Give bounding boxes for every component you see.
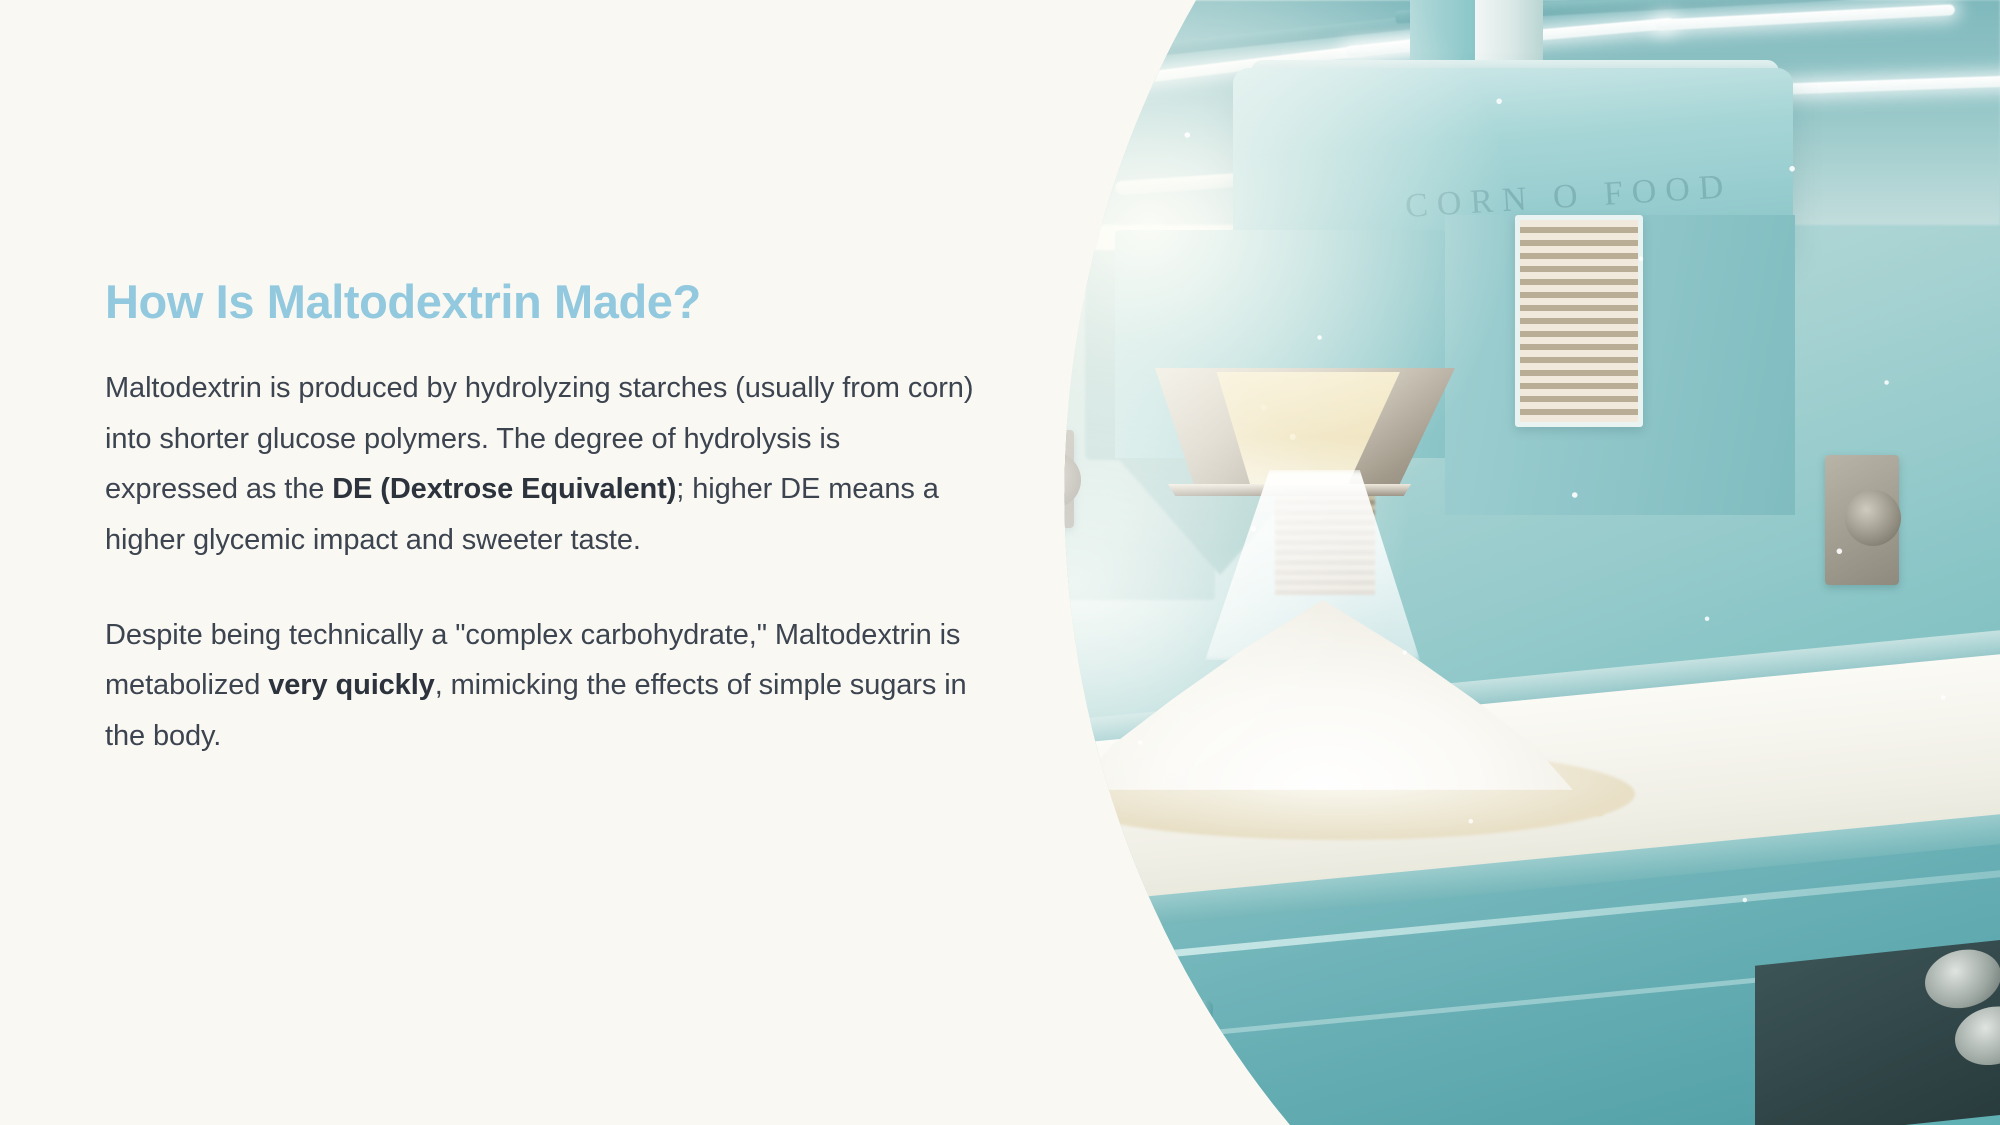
machine-control-knob[interactable]	[1055, 1015, 1155, 1125]
machine-side-bolt	[1845, 490, 1901, 546]
paragraph-1: Maltodextrin is produced by hydrolyzing …	[105, 363, 980, 565]
paragraph-2: Despite being technically a "complex car…	[105, 610, 980, 761]
recess-roller	[1925, 946, 2000, 1012]
cabinet-dark-recess	[1755, 934, 2000, 1125]
cabinet-door-handle[interactable]	[1192, 1000, 1214, 1125]
factory-photo: CORN O FOOD	[1055, 0, 2000, 1125]
machine-vent-louver	[1515, 215, 1643, 427]
recess-roller	[1955, 1003, 2000, 1069]
page-title: How Is Maltodextrin Made?	[105, 274, 985, 329]
text-column: How Is Maltodextrin Made? Maltodextrin i…	[105, 0, 985, 1125]
photo-panel: CORN O FOOD	[1055, 0, 2000, 1125]
slide-root: How Is Maltodextrin Made? Maltodextrin i…	[0, 0, 2000, 1125]
paragraph-2-bold-term: very quickly	[268, 669, 434, 701]
paragraph-1-bold-term: DE (Dextrose Equivalent)	[332, 473, 676, 505]
